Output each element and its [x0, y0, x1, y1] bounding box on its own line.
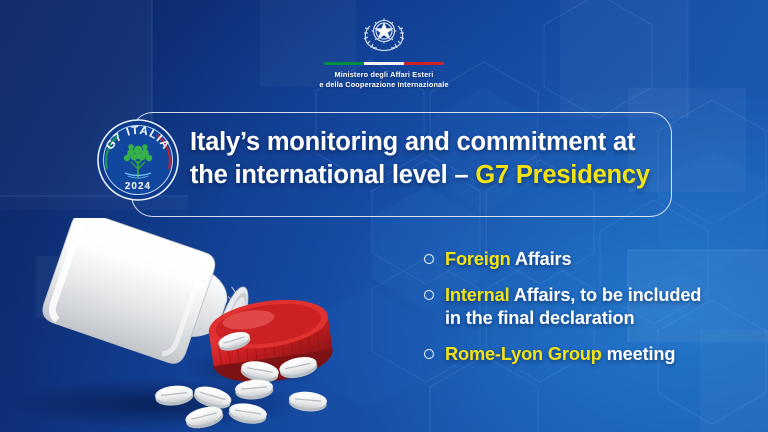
ministry-name-line1: Ministero degli Affari Esteri — [319, 70, 448, 80]
ministry-logo-block: Ministero degli Affari Esteri e della Co… — [0, 10, 768, 89]
list-item-highlight: Rome-Lyon Group — [445, 344, 602, 364]
circle-outline-bullet-icon — [424, 290, 434, 300]
list-item-highlight: Foreign — [445, 249, 511, 269]
circle-outline-bullet-icon — [424, 349, 434, 359]
circle-outline-bullet-icon — [424, 254, 434, 264]
pill-bottle-with-spilled-tablets — [8, 218, 356, 432]
page-title: Italy’s monitoring and commitment at the… — [190, 126, 660, 192]
list-item-text: Rome-Lyon Group meeting — [445, 343, 675, 366]
tricolor-white — [364, 62, 404, 65]
list-item: Rome-Lyon Group meeting — [424, 343, 760, 366]
tricolor-red — [404, 62, 444, 65]
list-item-text: Internal Affairs, to be includedin the f… — [445, 284, 701, 330]
g7-italia-2024-logo: G7 ITALIA 2024 — [97, 119, 179, 201]
g7-year-text: 2024 — [125, 181, 151, 192]
list-item-rest: meeting — [602, 344, 676, 364]
list-item-rest: Affairs — [511, 249, 572, 269]
emblem-of-italy-icon — [358, 10, 410, 58]
headline-line-2: the international level – G7 Presidency — [190, 159, 660, 192]
headline-line-1: Italy’s monitoring and commitment at — [190, 126, 660, 159]
list-item: Foreign Affairs — [424, 248, 760, 271]
ministry-name: Ministero degli Affari Esteri e della Co… — [319, 70, 448, 89]
list-item-text: Foreign Affairs — [445, 248, 571, 271]
bullet-list: Foreign Affairs Internal Affairs, to be … — [424, 248, 760, 366]
list-item-second-line: in the final declaration — [445, 308, 634, 328]
headline-highlight: G7 Presidency — [475, 161, 650, 189]
italian-tricolor-bar — [324, 62, 444, 65]
slide-canvas: Ministero degli Affari Esteri e della Co… — [0, 0, 768, 432]
headline-line-2-plain: the international level – — [190, 161, 475, 189]
list-item-highlight: Internal — [445, 285, 510, 305]
tricolor-green — [324, 62, 364, 65]
list-item: Internal Affairs, to be includedin the f… — [424, 284, 760, 330]
list-item-rest: Affairs, to be included — [510, 285, 702, 305]
ministry-name-line2: e della Cooperazione Internazionale — [319, 80, 448, 90]
